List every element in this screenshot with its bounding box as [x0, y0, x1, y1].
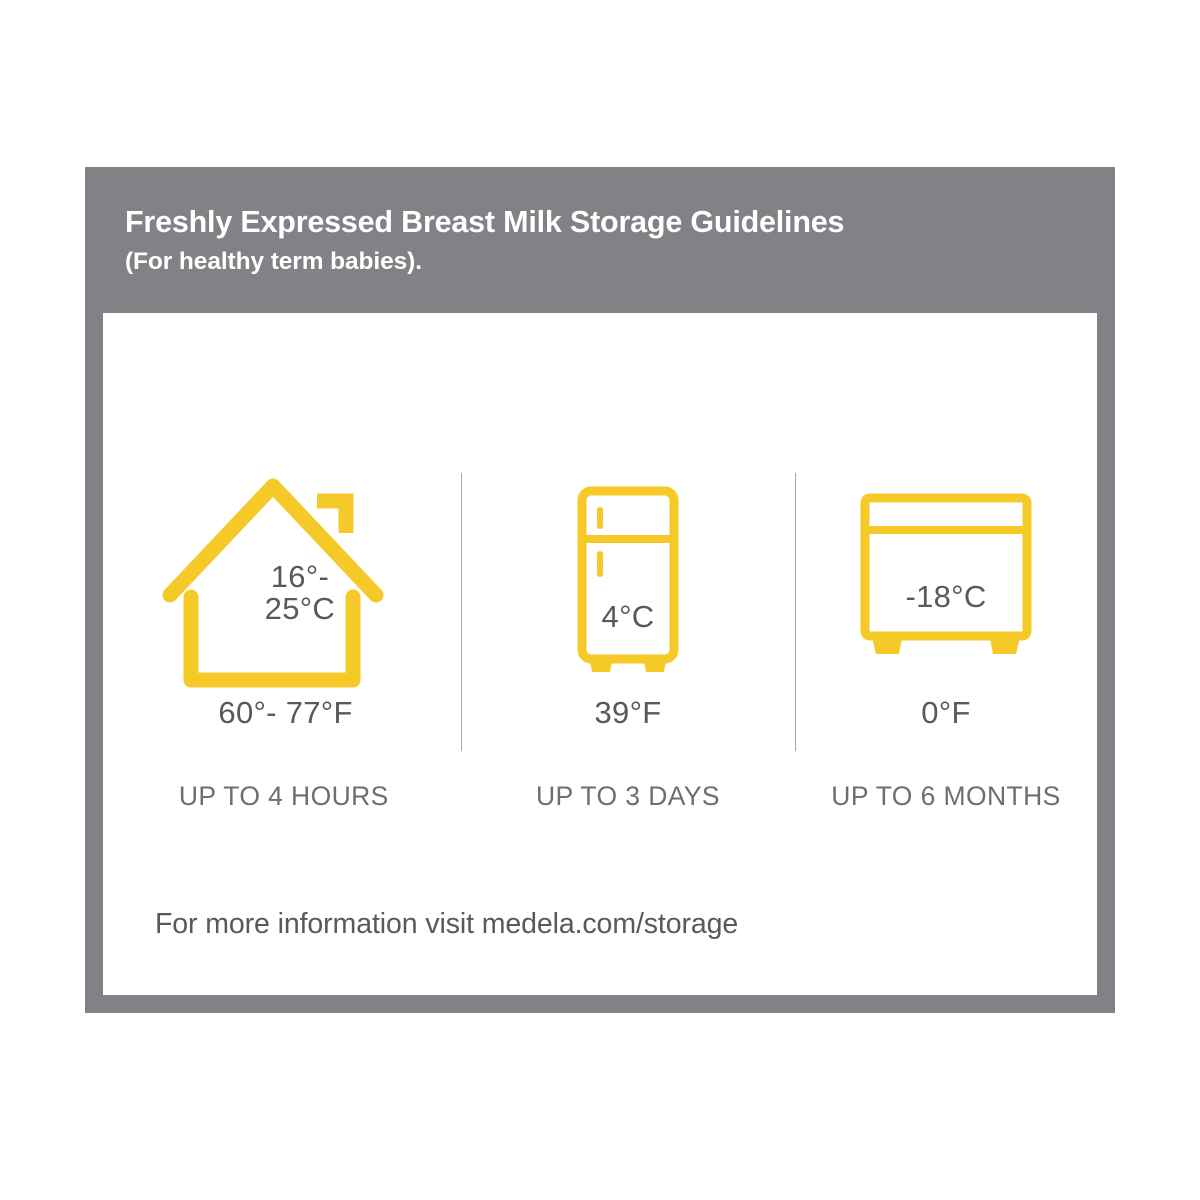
temperature-fahrenheit: 60°- 77°F [218, 695, 352, 731]
temperature-fahrenheit: 39°F [594, 695, 661, 731]
temperature-celsius: 16°- 25°C [265, 561, 335, 625]
temperature-celsius: 4°C [602, 601, 655, 633]
refrigerator-icon [567, 473, 689, 688]
duration-label: UP TO 3 DAYS [536, 781, 720, 812]
page-title: Freshly Expressed Breast Milk Storage Gu… [125, 205, 1085, 241]
footer-text: For more information visit medela.com/st… [155, 908, 738, 941]
duration-label: UP TO 4 HOURS [179, 781, 389, 812]
infographic-card: Freshly Expressed Breast Milk Storage Gu… [85, 167, 1115, 1013]
card-body: 16°- 25°C 60°- 77°F UP TO 4 HOURS [103, 313, 1097, 995]
icon-stage: 4°C [461, 473, 795, 688]
storage-column-room: 16°- 25°C 60°- 77°F UP TO 4 HOURS [103, 313, 461, 873]
temperature-fahrenheit: 0°F [921, 695, 970, 731]
storage-columns: 16°- 25°C 60°- 77°F UP TO 4 HOURS [103, 313, 1097, 873]
page-subtitle: (For healthy term babies). [125, 247, 1085, 276]
duration-label: UP TO 6 MONTHS [831, 781, 1060, 812]
card-header: Freshly Expressed Breast Milk Storage Gu… [125, 205, 1085, 276]
storage-column-fridge: 4°C 39°F UP TO 3 DAYS [461, 313, 795, 873]
icon-stage: 16°- 25°C [103, 473, 461, 688]
temperature-celsius: -18°C [905, 581, 986, 613]
storage-column-freezer: -18°C 0°F UP TO 6 MONTHS [795, 313, 1097, 873]
icon-stage: -18°C [795, 473, 1097, 688]
